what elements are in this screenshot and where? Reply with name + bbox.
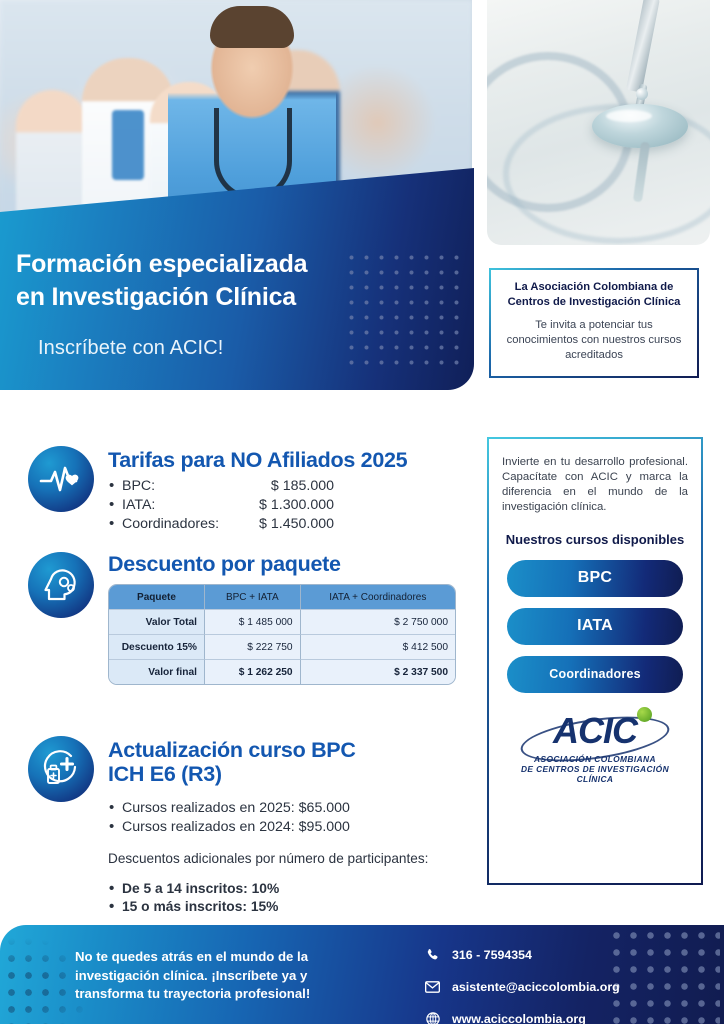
tarifa-currency: $ <box>257 496 267 515</box>
row-value-bpc-iata: $ 1 262 250 <box>205 660 301 684</box>
tarifas-section: Tarifas para NO Afiliados 2025 BPC:$ 185… <box>28 446 488 533</box>
table-row: Valor final $ 1 262 250 $ 2 337 500 <box>109 660 455 684</box>
heartbeat-icon <box>28 446 94 512</box>
row-value-bpc-iata: $ 222 750 <box>205 635 301 660</box>
course-pill-coordinadores[interactable]: Coordinadores <box>507 656 683 693</box>
bpc-additional-discounts-text: Descuentos adicionales por número de par… <box>108 850 448 867</box>
tarifa-amount: 185.000 <box>283 478 334 494</box>
row-value-iata-coord: $ 2 337 500 <box>301 660 455 684</box>
head-gears-icon <box>28 552 94 618</box>
doctor-hair <box>210 6 294 48</box>
footer-dot-pattern-right <box>608 927 720 1024</box>
contact-email-value: asistente@aciccolombia.org <box>452 980 620 994</box>
course-pill-iata[interactable]: IATA <box>507 608 683 645</box>
logo-green-dot-icon <box>637 707 652 722</box>
page-title-line2: en Investigación Clínica <box>16 283 296 311</box>
list-item: De 5 a 14 inscritos: 10% <box>108 880 448 898</box>
association-callout-box: La Asociación Colombiana de Centros de I… <box>489 268 699 378</box>
contact-website-value: www.aciccolombia.org <box>452 1012 586 1024</box>
table-col-header-bpc-iata: BPC + IATA <box>205 585 301 610</box>
list-item: Cursos realizados en 2024: $95.000 <box>108 818 448 837</box>
descuento-heading: Descuento por paquete <box>108 552 456 576</box>
bpc-heading-line1: Actualización curso BPC <box>108 738 356 762</box>
title-text-block: Formación especializada en Investigación… <box>16 248 416 360</box>
list-item: IATA:$ 1.300.000 <box>108 496 407 515</box>
bpc-course-list: Cursos realizados en 2025: $65.000 Curso… <box>108 799 448 836</box>
course-pill-bpc[interactable]: BPC <box>507 560 683 597</box>
contact-phone-row[interactable]: 316 - 7594354 <box>424 945 620 965</box>
association-name: La Asociación Colombiana de Centros de I… <box>503 280 685 309</box>
page-subtitle: Inscríbete con ACIC! <box>38 337 416 360</box>
row-value-iata-coord: $ 412 500 <box>301 635 455 660</box>
table-body: Valor Total $ 1 485 000 $ 2 750 000 Desc… <box>109 610 455 684</box>
courses-side-panel: Invierte en tu desarrollo profesional. C… <box>487 437 703 885</box>
large-droplet <box>592 104 688 148</box>
row-label: Descuento 15% <box>109 635 205 660</box>
phone-icon <box>424 948 441 962</box>
footer-banner: No te quedes atrás en el mundo de la inv… <box>0 925 724 1024</box>
acic-wordmark: ACIC <box>553 713 637 749</box>
globe-icon <box>424 1012 441 1024</box>
table-col-header-iata-coord: IATA + Coordinadores <box>301 585 455 610</box>
footer-message: No te quedes atrás en el mundo de la inv… <box>75 948 375 1004</box>
table-head: Paquete BPC + IATA IATA + Coordinadores <box>109 585 455 610</box>
association-invite-text: Te invita a potenciar tus conocimientos … <box>503 318 685 363</box>
bpc-body: Actualización curso BPC ICH E6 (R3) Curs… <box>108 736 448 916</box>
acic-logo: ACIC ASOCIACIÓN COLOMBIANA DE CENTROS DE… <box>502 713 688 784</box>
tarifa-label: IATA: <box>122 496 238 515</box>
page-title-line1: Formación especializada <box>16 250 307 278</box>
email-icon <box>424 981 441 993</box>
bpc-discount-list: De 5 a 14 inscritos: 10% 15 o más inscri… <box>108 880 448 916</box>
contact-website-row[interactable]: www.aciccolombia.org <box>424 1009 620 1024</box>
tarifa-currency: $ <box>257 515 267 534</box>
bpc-heading: Actualización curso BPC ICH E6 (R3) <box>108 738 448 786</box>
list-item: Coordinadores:$ 1.450.000 <box>108 515 407 534</box>
tarifas-list: BPC:$ 185.000 IATA:$ 1.300.000 Coordinad… <box>108 477 407 533</box>
contact-email-row[interactable]: asistente@aciccolombia.org <box>424 977 620 997</box>
panel-courses-heading: Nuestros cursos disponibles <box>502 532 688 549</box>
bpc-update-section: Actualización curso BPC ICH E6 (R3) Curs… <box>28 736 498 916</box>
page-title: Formación especializada en Investigación… <box>16 248 416 313</box>
table-header-row: Paquete BPC + IATA IATA + Coordinadores <box>109 585 455 610</box>
descuento-body: Descuento por paquete Paquete BPC + IATA… <box>108 552 456 685</box>
contact-phone-value: 316 - 7594354 <box>452 948 532 962</box>
list-item: 15 o más inscritos: 15% <box>108 898 448 916</box>
row-value-iata-coord: $ 2 750 000 <box>301 610 455 635</box>
tarifa-label: BPC: <box>122 477 238 496</box>
tarifas-body: Tarifas para NO Afiliados 2025 BPC:$ 185… <box>108 446 407 533</box>
logo-tagline-line2: DE CENTROS DE INVESTIGACIÓN CLÍNICA <box>502 764 688 784</box>
panel-intro-text: Invierte en tu desarrollo profesional. C… <box>502 455 688 515</box>
footer-contact-list: 316 - 7594354 asistente@aciccolombia.org… <box>424 945 620 1024</box>
package-discount-table: Paquete BPC + IATA IATA + Coordinadores … <box>108 584 456 685</box>
row-label: Valor final <box>109 660 205 684</box>
row-value-bpc-iata: $ 1 485 000 <box>205 610 301 635</box>
pipette-body <box>626 0 660 93</box>
list-item: Cursos realizados en 2025: $65.000 <box>108 799 448 818</box>
tarifa-currency: $ <box>269 477 279 496</box>
table-row: Descuento 15% $ 222 750 $ 412 500 <box>109 635 455 660</box>
tarifa-amount: 1.450.000 <box>271 516 334 532</box>
tarifa-amount: 1.300.000 <box>271 497 334 513</box>
medical-case-plus-icon <box>28 736 94 802</box>
table-row: Valor Total $ 1 485 000 $ 2 750 000 <box>109 610 455 635</box>
small-droplet <box>636 88 648 100</box>
table-col-header-paquete: Paquete <box>109 585 205 610</box>
tarifa-label: Coordinadores: <box>122 515 238 534</box>
tarifas-heading: Tarifas para NO Afiliados 2025 <box>108 448 407 472</box>
bpc-heading-line2: ICH E6 (R3) <box>108 762 222 786</box>
pipette-droplet-photo <box>487 0 710 245</box>
descuento-section: Descuento por paquete Paquete BPC + IATA… <box>28 552 498 685</box>
list-item: BPC:$ 185.000 <box>108 477 407 496</box>
row-label: Valor Total <box>109 610 205 635</box>
